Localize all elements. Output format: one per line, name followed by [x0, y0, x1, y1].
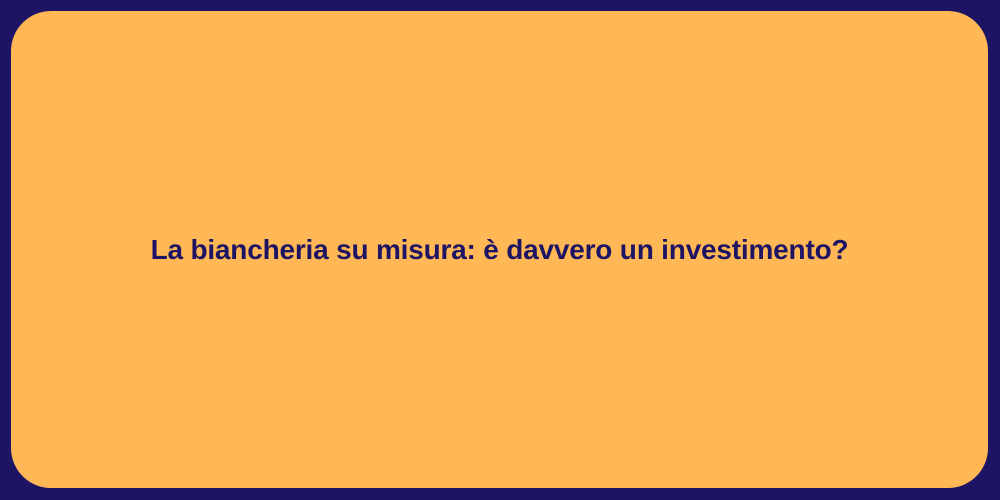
- banner-title: La biancheria su misura: è davvero un in…: [111, 232, 889, 267]
- banner-frame: La biancheria su misura: è davvero un in…: [0, 0, 1000, 500]
- banner-card: La biancheria su misura: è davvero un in…: [11, 11, 988, 488]
